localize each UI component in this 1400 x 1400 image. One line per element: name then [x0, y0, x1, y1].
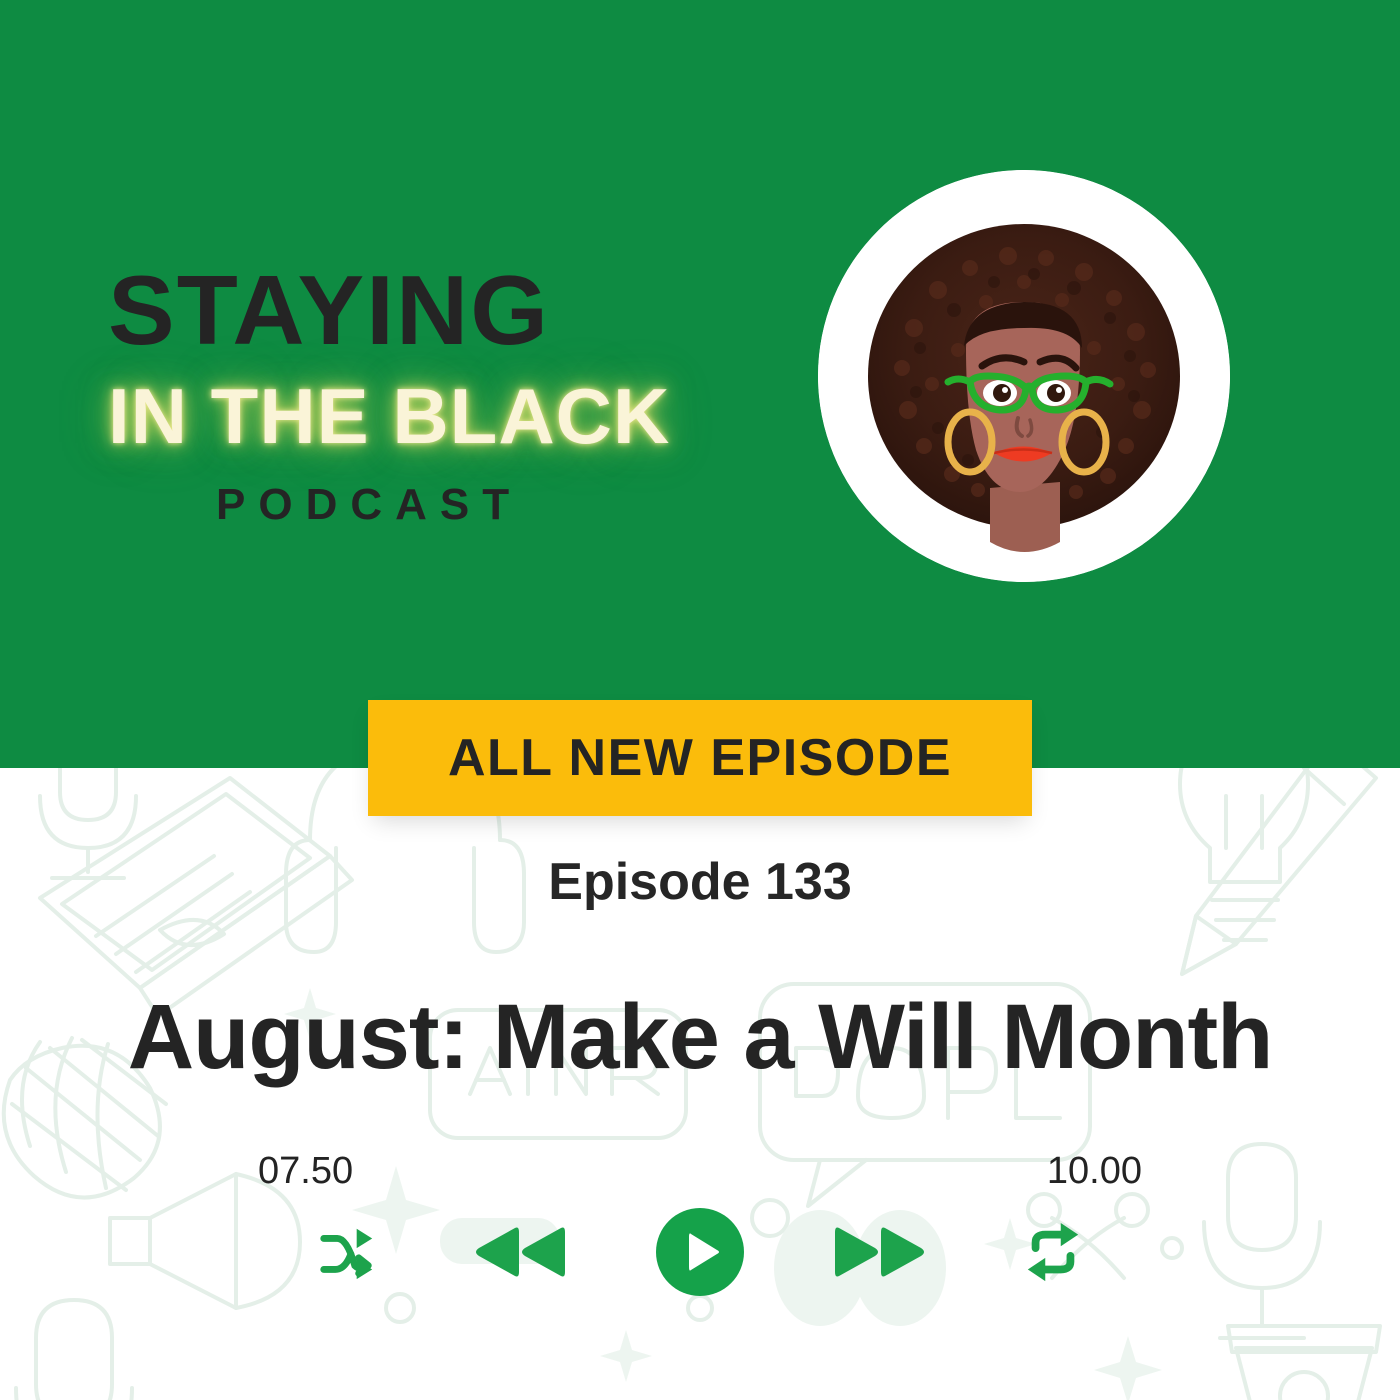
fast-forward-button[interactable]: [829, 1215, 933, 1289]
logo-subtitle-podcast: PODCAST: [216, 480, 728, 530]
rewind-icon: [469, 1220, 569, 1284]
repeat-icon: [1022, 1221, 1084, 1283]
episode-number: Episode 133: [0, 852, 1400, 912]
play-icon: [654, 1206, 746, 1298]
banner-label: ALL NEW EPISODE: [448, 728, 952, 788]
player-time-row: 07.50 10.00: [258, 1150, 1142, 1193]
episode-title: August: Make a Will Month: [0, 985, 1400, 1090]
logo-title-in-the-black: IN THE BLACK: [108, 376, 728, 458]
player-controls: [310, 1192, 1090, 1312]
avatar-illustration-svg: [818, 170, 1230, 582]
total-time: 10.00: [1047, 1150, 1142, 1193]
avatar: [818, 170, 1230, 582]
shuffle-button[interactable]: [310, 1215, 384, 1289]
play-button[interactable]: [654, 1206, 746, 1298]
all-new-episode-banner: ALL NEW EPISODE: [368, 700, 1032, 816]
logo-title-staying: STAYING: [108, 262, 740, 358]
repeat-button[interactable]: [1016, 1215, 1090, 1289]
elapsed-time: 07.50: [258, 1150, 353, 1193]
podcast-episode-cover: STAYING IN THE BLACK PODCAST: [0, 0, 1400, 1400]
podcast-logo-lockup: STAYING IN THE BLACK PODCAST: [108, 262, 728, 530]
avatar-circle-frame: [818, 170, 1230, 582]
rewind-button[interactable]: [467, 1215, 571, 1289]
fast-forward-icon: [831, 1220, 931, 1284]
shuffle-icon: [316, 1221, 378, 1283]
